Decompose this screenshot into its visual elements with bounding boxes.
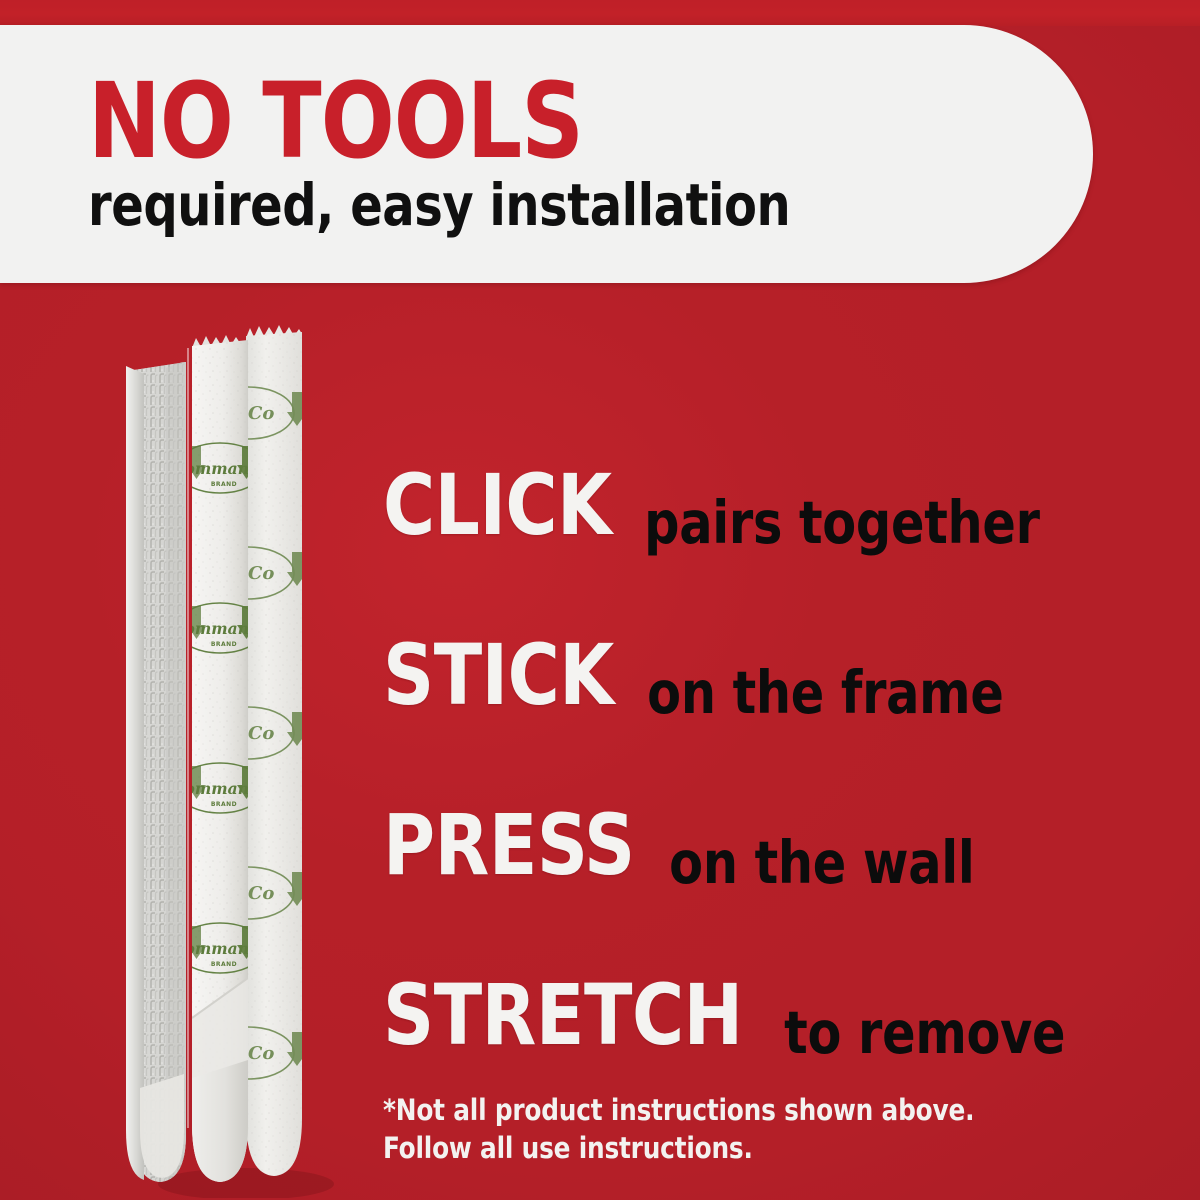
- step-row-click: CLICK pairs together: [383, 420, 1163, 590]
- step-keyword-stretch: STRETCH: [383, 973, 743, 1057]
- step-keyword-stick: STICK: [383, 633, 614, 717]
- product-image: Co Co Co Co Co: [96, 318, 356, 1198]
- step-keyword-click: CLICK: [383, 463, 612, 547]
- product-shadow: [158, 1168, 334, 1198]
- step-description-click: pairs together: [620, 493, 1040, 552]
- page-subtitle: required, easy installation: [88, 176, 898, 234]
- product-illustration: Co Co Co Co Co: [96, 318, 356, 1198]
- headline-banner: NO TOOLS required, easy installation: [0, 25, 1093, 283]
- product-front-strip: Command Command Command Command BRAND BR…: [126, 318, 264, 1198]
- step-description-stick: on the frame: [623, 663, 1004, 722]
- step-description-press: on the wall: [645, 833, 974, 892]
- product-pull-tab-back: [140, 1074, 184, 1178]
- svg-text:BRAND: BRAND: [211, 641, 237, 648]
- svg-text:BRAND: BRAND: [211, 961, 237, 968]
- poster-root: NO TOOLS required, easy installation: [0, 0, 1200, 1200]
- product-pull-tab-front: [192, 1060, 248, 1182]
- step-row-stick: STICK on the frame: [383, 590, 1163, 760]
- footnote-disclaimer: *Not all product instructions shown abov…: [383, 1092, 1086, 1167]
- headline-banner-content: NO TOOLS required, easy installation: [88, 25, 968, 283]
- page-title: NO TOOLS: [88, 74, 906, 170]
- step-keyword-press: PRESS: [383, 803, 635, 887]
- step-row-press: PRESS on the wall: [383, 760, 1163, 930]
- footnote-line-2: Follow all use instructions.: [383, 1130, 1086, 1168]
- svg-text:BRAND: BRAND: [211, 481, 237, 488]
- svg-text:BRAND: BRAND: [211, 801, 237, 808]
- instruction-steps: CLICK pairs together STICK on the frame …: [383, 420, 1163, 1100]
- footnote-line-1: *Not all product instructions shown abov…: [383, 1092, 1086, 1130]
- step-description-stretch: to remove: [760, 1003, 1065, 1062]
- background-top-strip: [0, 0, 1200, 26]
- step-row-stretch: STRETCH to remove: [383, 930, 1163, 1100]
